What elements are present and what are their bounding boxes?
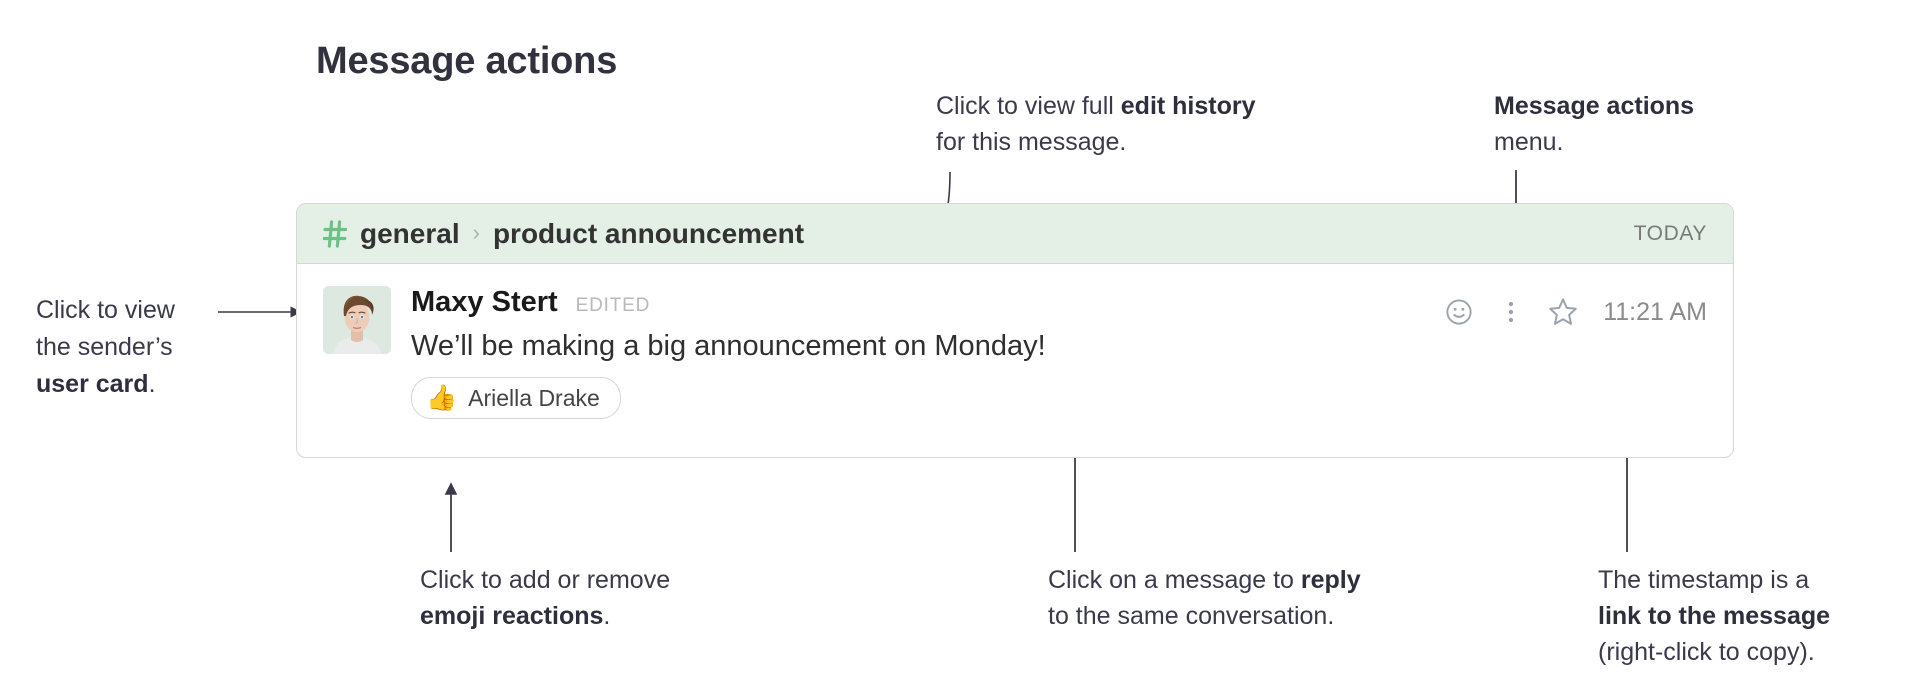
annotation-timestamp: The timestamp is a link to the message (… xyxy=(1598,562,1830,670)
annotation-text: . xyxy=(149,370,156,398)
annotation-line: the sender’s xyxy=(36,329,175,366)
annotation-actions-menu: Message actions menu. xyxy=(1494,88,1694,160)
topic-name[interactable]: product announcement xyxy=(493,218,804,250)
annotation-text: Click to view full xyxy=(936,92,1121,120)
annotation-emoji-reactions: Click to add or remove emoji reactions. xyxy=(420,562,670,634)
annotation-line: The timestamp is a xyxy=(1598,562,1830,598)
annotation-emphasis: edit history xyxy=(1121,92,1256,120)
message-timestamp[interactable]: 11:21 AM xyxy=(1603,298,1707,327)
annotation-line: link to the message xyxy=(1598,598,1830,634)
message-text[interactable]: We’ll be making a big announcement on Mo… xyxy=(411,327,1707,365)
sender-name[interactable]: Maxy Stert xyxy=(411,286,558,319)
reaction-pill[interactable]: 👍 Ariella Drake xyxy=(411,377,621,419)
annotation-line: Message actions xyxy=(1494,88,1694,124)
annotation-line: to the same conversation. xyxy=(1048,598,1361,634)
breadcrumb-chevron-icon: › xyxy=(473,222,480,244)
page-title: Message actions xyxy=(316,40,617,83)
reaction-label: Ariella Drake xyxy=(468,385,600,412)
annotation-line: Click on a message to reply xyxy=(1048,562,1361,598)
annotation-text: Click on a message to xyxy=(1048,566,1301,594)
thumbs-up-emoji: 👍 xyxy=(426,386,457,411)
avatar[interactable] xyxy=(323,286,391,354)
message-actions-menu-button[interactable] xyxy=(1485,292,1537,332)
annotation-line: for this message. xyxy=(936,124,1256,160)
hash-icon xyxy=(323,220,349,248)
annotation-line: emoji reactions. xyxy=(420,598,670,634)
annotation-emphasis: user card xyxy=(36,370,149,398)
annotation-line: menu. xyxy=(1494,124,1694,160)
reaction-row: 👍 Ariella Drake xyxy=(411,377,1707,419)
annotation-line: Click to view full edit history xyxy=(936,88,1256,124)
annotation-emphasis: emoji reactions xyxy=(420,602,603,630)
add-reaction-button[interactable] xyxy=(1433,292,1485,332)
illustration-canvas: Message actions Click to view full edit … xyxy=(0,0,1924,696)
annotation-edit-history: Click to view full edit history for this… xyxy=(936,88,1256,160)
message-card: general › product announcement TODAY xyxy=(296,203,1734,458)
annotation-reply: Click on a message to reply to the same … xyxy=(1048,562,1361,634)
annotation-user-card: Click to view the sender’s user card. xyxy=(36,292,175,403)
vertical-dots-icon xyxy=(1498,297,1524,327)
annotation-line: user card. xyxy=(36,366,175,403)
avatar-photo xyxy=(323,286,391,354)
star-icon xyxy=(1547,296,1579,328)
annotation-emphasis: Message actions xyxy=(1494,92,1694,120)
annotation-emphasis: reply xyxy=(1301,566,1361,594)
message-controls: 11:21 AM xyxy=(1433,292,1707,332)
message-row[interactable]: Maxy Stert EDITED We’ll be making a big … xyxy=(297,264,1733,419)
star-message-button[interactable] xyxy=(1537,292,1589,332)
annotation-line: (right-click to copy). xyxy=(1598,634,1830,670)
annotation-text: . xyxy=(603,602,610,630)
annotation-line: Click to add or remove xyxy=(420,562,670,598)
stream-name[interactable]: general xyxy=(360,218,460,250)
annotation-emphasis: link to the message xyxy=(1598,602,1830,630)
date-label: TODAY xyxy=(1634,222,1707,246)
recipient-bar: general › product announcement TODAY xyxy=(297,204,1733,264)
annotation-line: Click to view xyxy=(36,292,175,329)
edited-badge[interactable]: EDITED xyxy=(576,295,650,317)
emoji-smiley-icon xyxy=(1444,297,1474,327)
